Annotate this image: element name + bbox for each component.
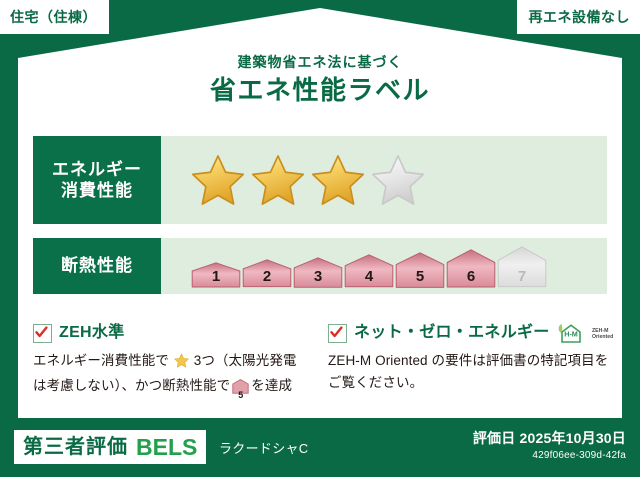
insulation-level-number: 3	[293, 269, 343, 284]
building-name: ラクードシャC	[219, 442, 309, 455]
insulation-level-3: 3	[293, 257, 343, 288]
evaluation-id: 429f06ee-309d-42fa	[473, 451, 626, 461]
inline-star-icon	[170, 356, 193, 371]
heading-title: 省エネ性能ラベル	[0, 77, 640, 103]
insulation-level-7: 7	[497, 246, 547, 288]
heading-subtitle: 建築物省エネ法に基づく	[0, 55, 640, 69]
net-zero-energy-description: ZEH-M Oriented の要件は評価書の特記項目をご覧ください。	[328, 350, 610, 394]
insulation-scale-wrap: 1234567	[161, 238, 607, 294]
badge-renewable-energy: 再エネ設備なし	[517, 0, 640, 34]
energy-performance-label: エネルギー 消費性能	[33, 136, 161, 224]
zeh-standard-description: エネルギー消費性能で 3つ（太陽光発電 は考慮しない）、かつ断熱性能で 5 を達…	[33, 350, 318, 401]
insulation-performance-label-line1: 断熱性能	[61, 255, 133, 276]
evaluation-info: 評価日 2025年10月30日 429f06ee-309d-42fa	[473, 431, 626, 461]
inline-house-level: 5	[232, 391, 249, 400]
insulation-level-number: 7	[497, 269, 547, 284]
svg-text:H-M: H-M	[564, 330, 578, 339]
net-zero-energy-title: ネット・ゼロ・エネルギー	[354, 325, 550, 341]
insulation-level-5: 5	[395, 252, 445, 288]
zeh-desc-part3: を達成	[251, 378, 292, 393]
insulation-level-number: 5	[395, 269, 445, 284]
bels-logo-en: BELS	[136, 436, 197, 459]
zeh-m-oriented-logo-icon: H-M ZEH-M Oriented	[556, 321, 615, 345]
bels-logo-jp: 第三者評価	[23, 437, 128, 457]
zeh-standard-header: ZEH水準	[33, 322, 318, 344]
insulation-level-2: 2	[242, 259, 292, 288]
insulation-level-6: 6	[446, 249, 496, 288]
zeh-desc-part2: は考慮しない）、かつ断熱性能で	[33, 378, 230, 393]
star-empty-icon	[371, 153, 425, 207]
insulation-level-number: 4	[344, 269, 394, 284]
star-filled-icon	[251, 153, 305, 207]
energy-performance-row: エネルギー 消費性能	[33, 136, 607, 224]
star-filled-icon	[191, 153, 245, 207]
check-icon	[328, 324, 347, 343]
insulation-level-number: 2	[242, 269, 292, 284]
zeh-standard-title: ZEH水準	[59, 325, 125, 341]
zeh-desc-star-count: 3つ（太陽光発電	[194, 353, 297, 368]
badge-building-type: 住宅（住棟）	[0, 0, 109, 34]
star-filled-icon	[311, 153, 365, 207]
check-icon	[33, 324, 52, 343]
energy-performance-label-line2: 消費性能	[61, 180, 133, 201]
net-zero-energy-header: ネット・ゼロ・エネルギー H-M ZEH-M Oriented	[328, 322, 610, 344]
inline-house-icon: 5	[232, 379, 249, 401]
insulation-performance-label: 断熱性能	[33, 238, 161, 294]
energy-performance-label-line1: エネルギー	[52, 159, 142, 180]
insulation-level-1: 1	[191, 262, 241, 288]
star-rating	[161, 136, 607, 224]
insulation-level-number: 1	[191, 269, 241, 284]
svg-text:Oriented: Oriented	[592, 334, 613, 340]
zeh-standard-block: ZEH水準 エネルギー消費性能で 3つ（太陽光発電 は考慮しない）、かつ断熱性能…	[33, 322, 318, 401]
insulation-performance-row: 断熱性能 1234567	[33, 238, 607, 294]
zeh-desc-part1: エネルギー消費性能で	[33, 353, 169, 368]
energy-label-root: 住宅（住棟） 再エネ設備なし 建築物省エネ法に基づく 省エネ性能ラベル エネルギ…	[0, 0, 640, 477]
net-zero-energy-block: ネット・ゼロ・エネルギー H-M ZEH-M Oriented ZEH-M Or…	[328, 322, 610, 394]
insulation-level-4: 4	[344, 254, 394, 288]
footer-bar: 第三者評価 BELS ラクードシャC 評価日 2025年10月30日 429f0…	[0, 418, 640, 477]
bels-logo: 第三者評価 BELS	[14, 430, 206, 464]
insulation-level-number: 6	[446, 269, 496, 284]
label-heading: 建築物省エネ法に基づく 省エネ性能ラベル	[0, 55, 640, 103]
evaluation-date: 評価日 2025年10月30日	[473, 431, 626, 445]
insulation-level-scale: 1234567	[191, 244, 548, 288]
